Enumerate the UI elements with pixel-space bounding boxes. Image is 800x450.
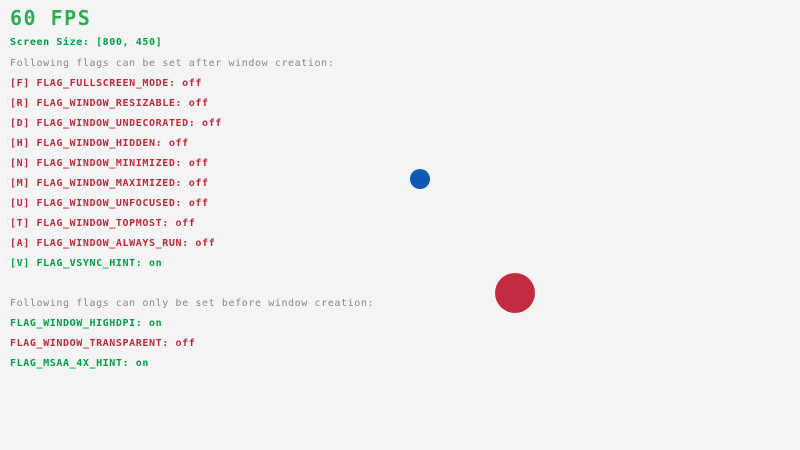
flags-before-creation-header: Following flags can only be set before w… — [10, 299, 374, 309]
flag-row-window-maximized[interactable]: [M] FLAG_WINDOW_MAXIMIZED: off — [10, 179, 209, 189]
flag-row-window-undecorated[interactable]: [D] FLAG_WINDOW_UNDECORATED: off — [10, 119, 222, 129]
raylib-window-canvas: 60 FPS Screen Size: [800, 450] Following… — [0, 0, 800, 450]
flag-row-window-transparent: FLAG_WINDOW_TRANSPARENT: off — [10, 339, 195, 349]
flag-row-window-topmost[interactable]: [T] FLAG_WINDOW_TOPMOST: off — [10, 219, 195, 229]
red-ball-shape — [495, 273, 535, 313]
flag-row-window-minimized[interactable]: [N] FLAG_WINDOW_MINIMIZED: off — [10, 159, 209, 169]
screen-size-label: Screen Size: [800, 450] — [10, 38, 162, 48]
flags-after-creation-header: Following flags can be set after window … — [10, 59, 334, 69]
flag-row-window-resizable[interactable]: [R] FLAG_WINDOW_RESIZABLE: off — [10, 99, 209, 109]
flag-row-msaa-4x-hint: FLAG_MSAA_4X_HINT: on — [10, 359, 149, 369]
flag-row-fullscreen-mode[interactable]: [F] FLAG_FULLSCREEN_MODE: off — [10, 79, 202, 89]
blue-ball-shape — [410, 169, 430, 189]
flag-row-vsync-hint[interactable]: [V] FLAG_VSYNC_HINT: on — [10, 259, 162, 269]
flag-row-window-unfocused[interactable]: [U] FLAG_WINDOW_UNFOCUSED: off — [10, 199, 209, 209]
flag-row-window-always-run[interactable]: [A] FLAG_WINDOW_ALWAYS_RUN: off — [10, 239, 215, 249]
flag-row-window-highdpi: FLAG_WINDOW_HIGHDPI: on — [10, 319, 162, 329]
flag-row-window-hidden[interactable]: [H] FLAG_WINDOW_HIDDEN: off — [10, 139, 189, 149]
fps-counter: 60 FPS — [10, 8, 91, 28]
